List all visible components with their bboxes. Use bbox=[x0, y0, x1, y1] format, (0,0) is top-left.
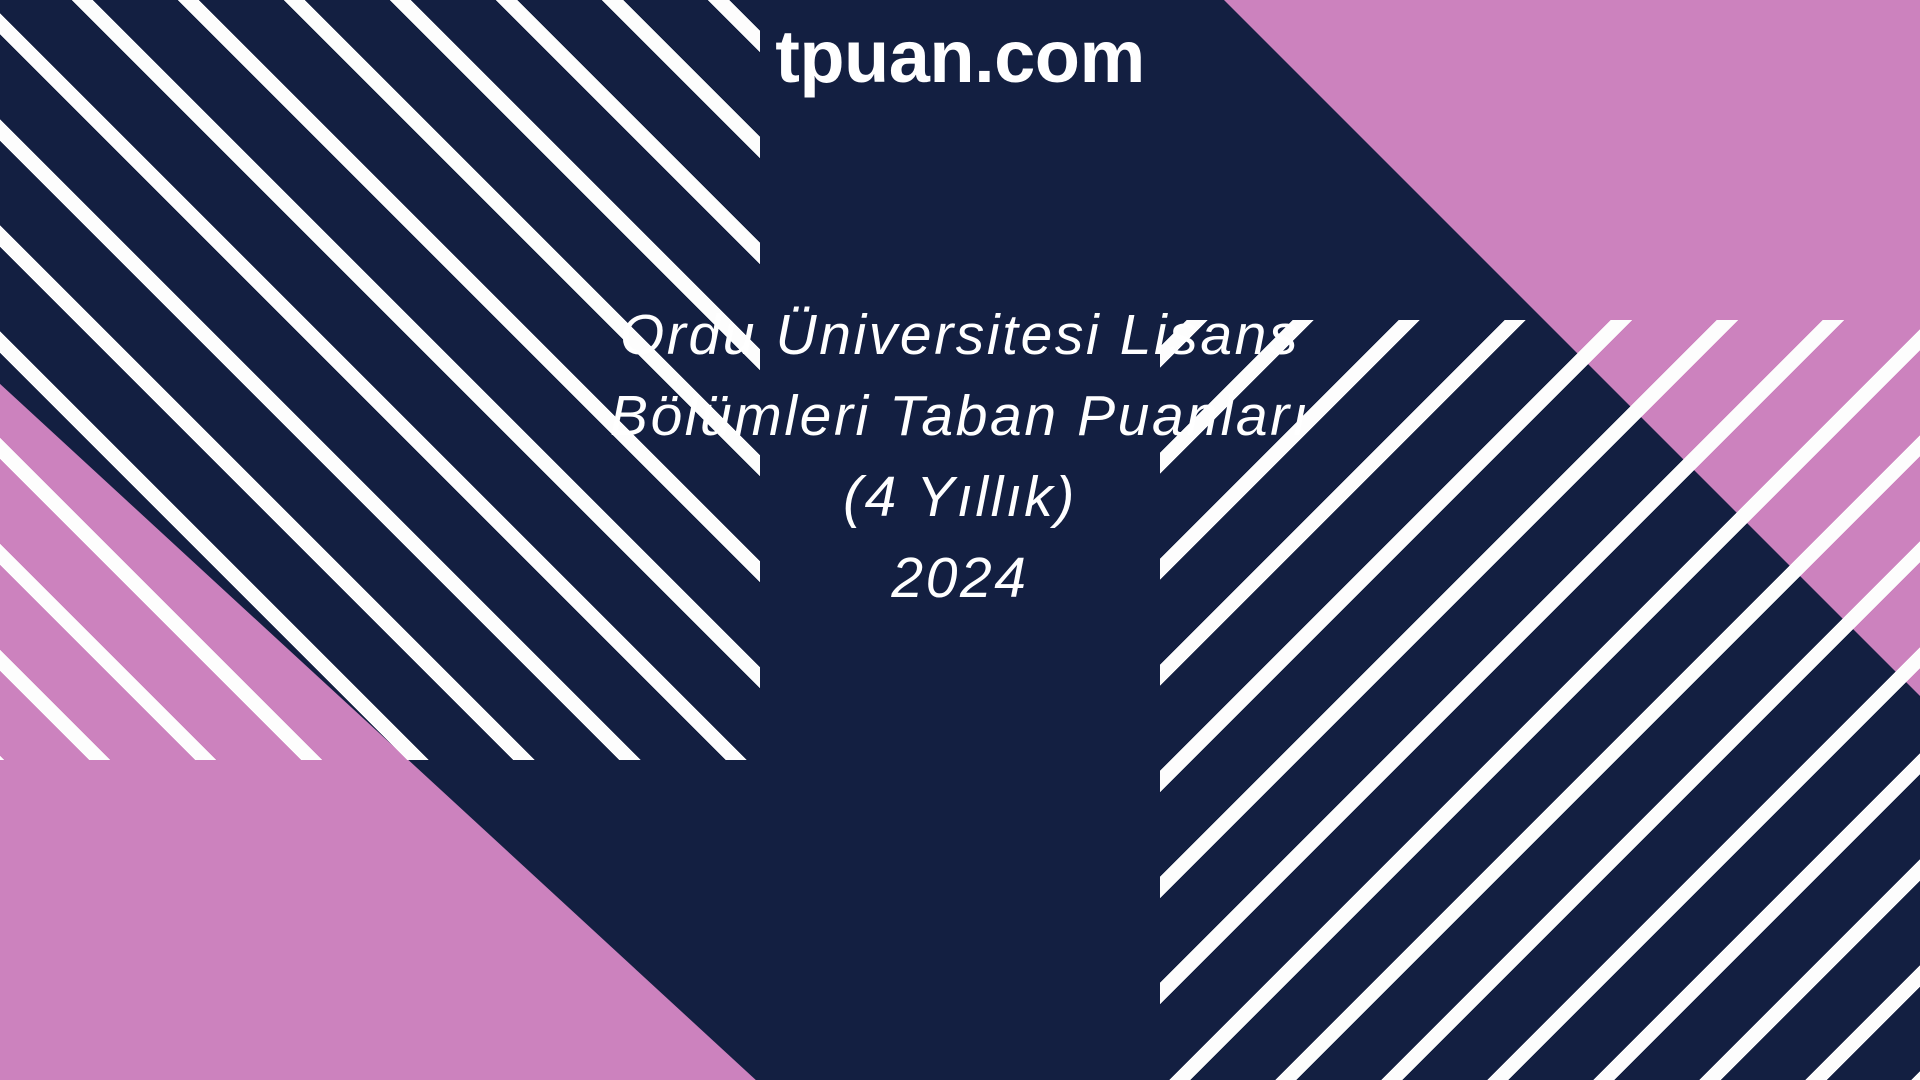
subtitle-line-3: (4 Yıllık) bbox=[370, 457, 1550, 538]
poster-subtitle: Ordu Üniversitesi Lisans Bölümleri Taban… bbox=[370, 295, 1550, 619]
poster-content: tpuan.com Ordu Üniversitesi Lisans Bölüm… bbox=[0, 0, 1920, 1080]
subtitle-line-2: Bölümleri Taban Puanları bbox=[370, 376, 1550, 457]
subtitle-line-4: 2024 bbox=[370, 538, 1550, 619]
subtitle-line-1: Ordu Üniversitesi Lisans bbox=[370, 295, 1550, 376]
poster-canvas: tpuan.com Ordu Üniversitesi Lisans Bölüm… bbox=[0, 0, 1920, 1080]
site-title: tpuan.com bbox=[775, 0, 1145, 99]
